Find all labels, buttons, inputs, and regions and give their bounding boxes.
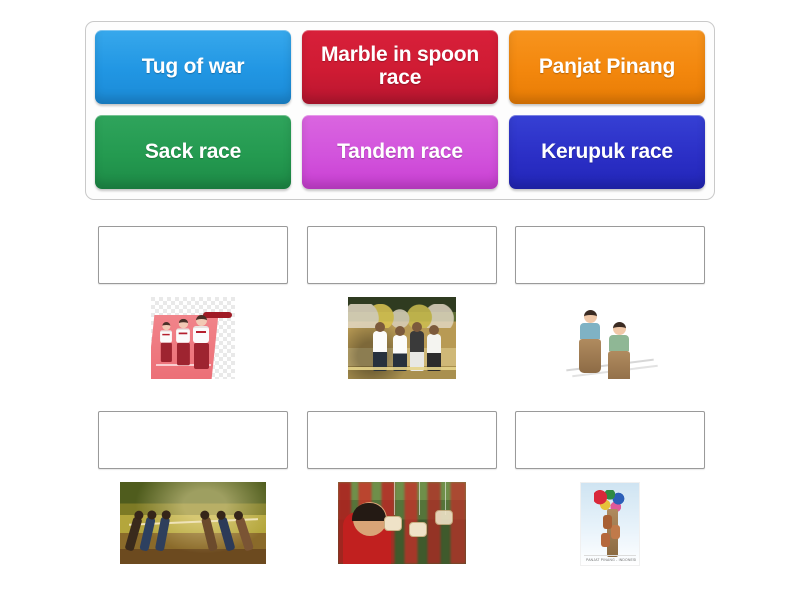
drop-zone-3[interactable] [515, 226, 705, 284]
answer-cell-4 [98, 411, 288, 572]
answer-row-2: PANJAT PINANG - INDONESIA [98, 411, 705, 572]
tile-panjat-pinang[interactable]: Panjat Pinang [509, 30, 705, 104]
drop-zone-4[interactable] [98, 411, 288, 469]
runner-figure [373, 331, 387, 371]
tile-label: Sack race [145, 141, 241, 164]
tile-label: Marble in spoon race [308, 44, 492, 89]
tile-row-1: Tug of war Marble in spoon race Panjat P… [95, 30, 705, 106]
climber-figure [601, 533, 610, 547]
marble-in-spoon-race-photo [348, 297, 456, 379]
sack-race-illustration [562, 297, 658, 379]
drop-zone-5[interactable] [307, 411, 497, 469]
answer-cell-5 [307, 411, 497, 572]
media-wrap-2 [307, 297, 497, 387]
cracker-shape [384, 516, 402, 531]
tile-tandem-race[interactable]: Tandem race [302, 115, 498, 189]
answer-cell-1 [98, 226, 288, 387]
panjat-pinang-photo: PANJAT PINANG - INDONESIA [580, 482, 640, 566]
match-up-activity: Tug of war Marble in spoon race Panjat P… [0, 0, 800, 600]
answer-cell-2 [307, 226, 497, 387]
field-line [348, 367, 456, 370]
climber-figure [603, 515, 612, 529]
tug-of-war-photo [120, 482, 266, 564]
crowd-shape [348, 304, 456, 329]
cracker-shape [409, 522, 427, 537]
hanging-string [419, 482, 420, 515]
runner-figure [410, 331, 424, 371]
tile-tug-of-war[interactable]: Tug of war [95, 30, 291, 104]
media-wrap-4 [98, 482, 288, 572]
sack-jumper-figure [579, 310, 601, 373]
tile-label: Panjat Pinang [539, 56, 675, 79]
tile-marble-in-spoon-race[interactable]: Marble in spoon race [302, 30, 498, 104]
tile-row-2: Sack race Tandem race Kerupuk race [95, 115, 705, 191]
media-wrap-6: PANJAT PINANG - INDONESIA [515, 482, 705, 572]
answer-grid: PANJAT PINANG - INDONESIA [98, 226, 705, 596]
answer-row-1 [98, 226, 705, 387]
hanging-string [394, 482, 395, 515]
kerupuk-race-photo [338, 482, 466, 564]
boy-hair [352, 503, 386, 521]
tile-sack-race[interactable]: Sack race [95, 115, 291, 189]
runner-figure [160, 322, 172, 362]
runner-figure [176, 319, 190, 365]
photo-caption: PANJAT PINANG - INDONESIA [584, 555, 636, 563]
runner-figure [193, 315, 209, 369]
drop-zone-2[interactable] [307, 226, 497, 284]
tile-label: Kerupuk race [541, 141, 673, 164]
drop-zone-6[interactable] [515, 411, 705, 469]
tile-kerupuk-race[interactable]: Kerupuk race [509, 115, 705, 189]
drop-zone-1[interactable] [98, 226, 288, 284]
runner-figure [427, 334, 441, 371]
climber-figure [611, 525, 620, 539]
media-wrap-1 [98, 297, 288, 387]
tile-label: Tandem race [337, 141, 463, 164]
tile-label: Tug of war [142, 56, 245, 79]
tandem-race-illustration [151, 297, 235, 379]
tile-tray: Tug of war Marble in spoon race Panjat P… [85, 21, 715, 200]
cracker-shape [435, 510, 453, 525]
media-wrap-3 [515, 297, 705, 387]
media-wrap-5 [307, 482, 497, 572]
answer-cell-6: PANJAT PINANG - INDONESIA [515, 411, 705, 572]
answer-cell-3 [515, 226, 705, 387]
sack-jumper-figure [608, 322, 630, 379]
runner-figure [393, 335, 407, 371]
